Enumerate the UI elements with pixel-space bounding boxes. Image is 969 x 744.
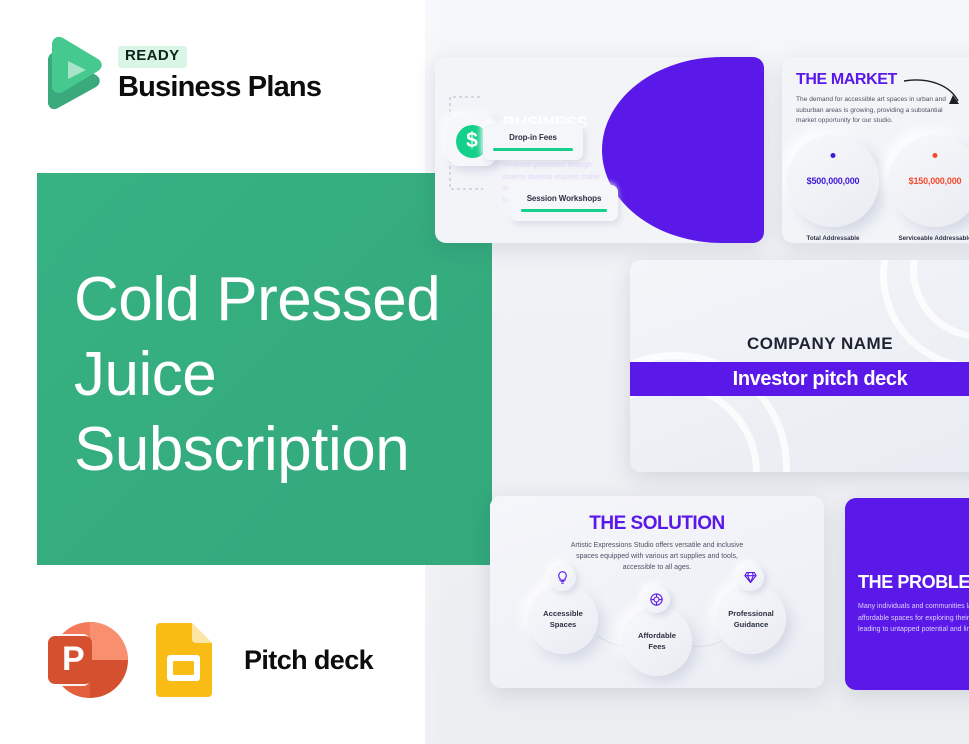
cover-company-name: COMPANY NAME — [630, 334, 969, 354]
metric-disc: $150,000,000 — [889, 135, 969, 227]
metric-dot — [933, 153, 938, 158]
label-line-2: Spaces — [543, 619, 583, 630]
metric-caption: Total Addressable Market (TAM) — [807, 234, 860, 243]
hero-title-line-3: Subscription — [74, 412, 494, 487]
card-accent-bar — [493, 148, 573, 150]
brand-logo[interactable]: READY Business Plans — [38, 36, 321, 112]
brand-name: Business Plans — [118, 71, 321, 104]
formats-label: Pitch deck — [244, 645, 373, 676]
label-line-1: Affordable — [638, 630, 676, 641]
label-line-2: Guidance — [728, 619, 774, 630]
svg-text:P: P — [62, 640, 85, 678]
solution-item-label: Professional Guidance — [728, 608, 774, 630]
lightbulb-icon — [549, 564, 576, 591]
cover-subtitle-bar: Investor pitch deck — [630, 362, 969, 396]
market-metrics: $500,000,000 Total Addressable Market (T… — [786, 135, 969, 243]
business-model-card-session-workshops[interactable]: Session Workshops — [510, 185, 618, 221]
metric-caption-line-1: Total Addressable — [807, 234, 860, 243]
label-line-1: Accessible — [543, 608, 583, 619]
solution-item-accessible-spaces[interactable]: Accessible Spaces — [528, 584, 598, 654]
solution-item-label: Accessible Spaces — [543, 608, 583, 630]
solution-item-affordable-fees[interactable]: Affordable Fees — [622, 606, 692, 676]
market-description: The demand for accessible art spaces in … — [796, 95, 953, 127]
hero-title-line-1: Cold Pressed — [74, 262, 494, 337]
page-title: Cold Pressed Juice Subscription — [74, 262, 494, 487]
slide-the-problem[interactable]: THE PROBLEM Many individuals and communi… — [845, 498, 969, 690]
card-label: Session Workshops — [527, 194, 602, 203]
metric-disc: $500,000,000 — [787, 135, 879, 227]
label-line-2: Fees — [638, 641, 676, 652]
slide-business-model[interactable]: BUSINESS MODEL Revenue generation throug… — [435, 57, 764, 243]
card-label: Drop-in Fees — [509, 133, 557, 142]
market-heading: THE MARKET — [796, 71, 897, 89]
metric-caption-line-1: Serviceable Addressable — [898, 234, 969, 243]
promo-page: READY Business Plans Cold Pressed Juice … — [0, 0, 969, 744]
solution-item-label: Affordable Fees — [638, 630, 676, 652]
market-metric-tam: $500,000,000 Total Addressable Market (T… — [786, 135, 880, 243]
google-slides-icon[interactable] — [152, 623, 214, 697]
ready-badge: READY — [118, 46, 187, 68]
metric-value: $500,000,000 — [807, 176, 860, 186]
business-model-card-drop-in-fees[interactable]: Drop-in Fees — [483, 124, 583, 160]
market-metric-sam: $150,000,000 Serviceable Addressable Mar… — [888, 135, 969, 243]
card-accent-bar — [521, 209, 607, 211]
slide-the-market[interactable]: THE MARKET The demand for accessible art… — [782, 57, 969, 243]
slide-the-solution[interactable]: THE SOLUTION Artistic Expressions Studio… — [490, 496, 824, 688]
label-line-1: Professional — [728, 608, 774, 619]
lifebuoy-icon — [643, 586, 670, 613]
solution-item-professional-guidance[interactable]: Professional Guidance — [716, 584, 786, 654]
metric-dot — [831, 153, 836, 158]
metric-value: $150,000,000 — [909, 176, 962, 186]
brand-text-block: READY Business Plans — [118, 44, 321, 104]
hero-title-line-2: Juice — [74, 337, 494, 412]
slide-investor-pitch-deck-cover[interactable]: COMPANY NAME Investor pitch deck — [630, 260, 969, 472]
diamond-icon — [737, 564, 764, 591]
problem-description: Many individuals and communities lack ac… — [858, 601, 969, 636]
metric-caption: Serviceable Addressable Market (SAM) — [898, 234, 969, 243]
problem-heading: THE PROBLEM — [858, 572, 969, 593]
powerpoint-icon[interactable]: P — [42, 618, 128, 702]
cover-subtitle: Investor pitch deck — [733, 368, 908, 391]
formats-row: P Pitch deck — [42, 618, 373, 702]
play-triangle-logo-icon — [38, 36, 104, 112]
